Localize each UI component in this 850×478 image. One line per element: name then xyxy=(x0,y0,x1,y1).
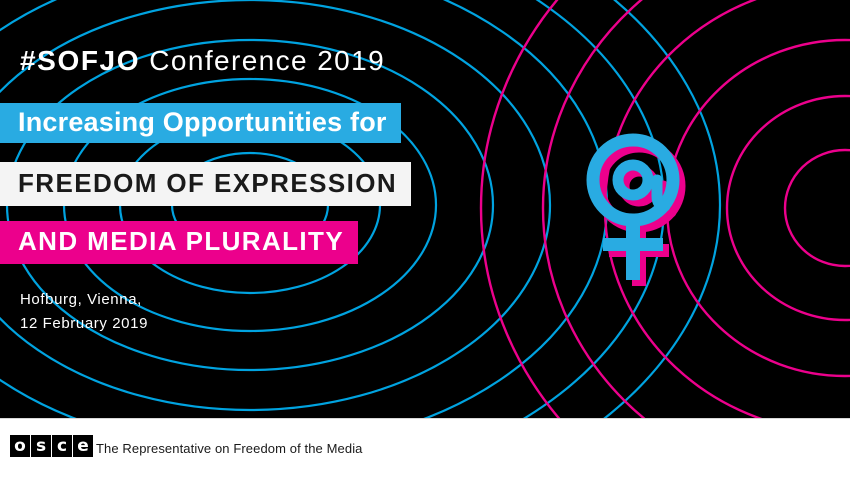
date-line: 12 February 2019 xyxy=(20,312,148,336)
poster-stage: #SOFJO Conference 2019 Increasing Opport… xyxy=(0,0,850,418)
osce-logo-letter-s: s xyxy=(31,435,51,457)
conference-poster: #SOFJO Conference 2019 Increasing Opport… xyxy=(0,0,850,478)
title-rest: Conference 2019 xyxy=(140,45,385,76)
osce-logo-letter-c: c xyxy=(52,435,72,457)
at-venus-symbol-icon xyxy=(575,128,725,298)
headline-bar-media-plurality: AND MEDIA PLURALITY xyxy=(0,221,358,264)
title-hashtag: #SOFJO xyxy=(20,45,140,76)
footer-tagline: The Representative on Freedom of the Med… xyxy=(96,441,363,457)
emblem-main xyxy=(593,140,673,280)
osce-logo-letter-e: e xyxy=(73,435,93,457)
venue-date-block: Hofburg, Vienna, 12 February 2019 xyxy=(20,288,148,336)
venue-line: Hofburg, Vienna, xyxy=(20,288,148,312)
osce-logo-letter-o: o xyxy=(10,435,30,457)
headline-bar-freedom-of-expression: FREEDOM OF EXPRESSION xyxy=(0,162,411,206)
headline-bar-opportunities: Increasing Opportunities for xyxy=(0,103,401,143)
osce-logo: o s c e xyxy=(10,435,93,457)
page-title: #SOFJO Conference 2019 xyxy=(20,46,385,76)
